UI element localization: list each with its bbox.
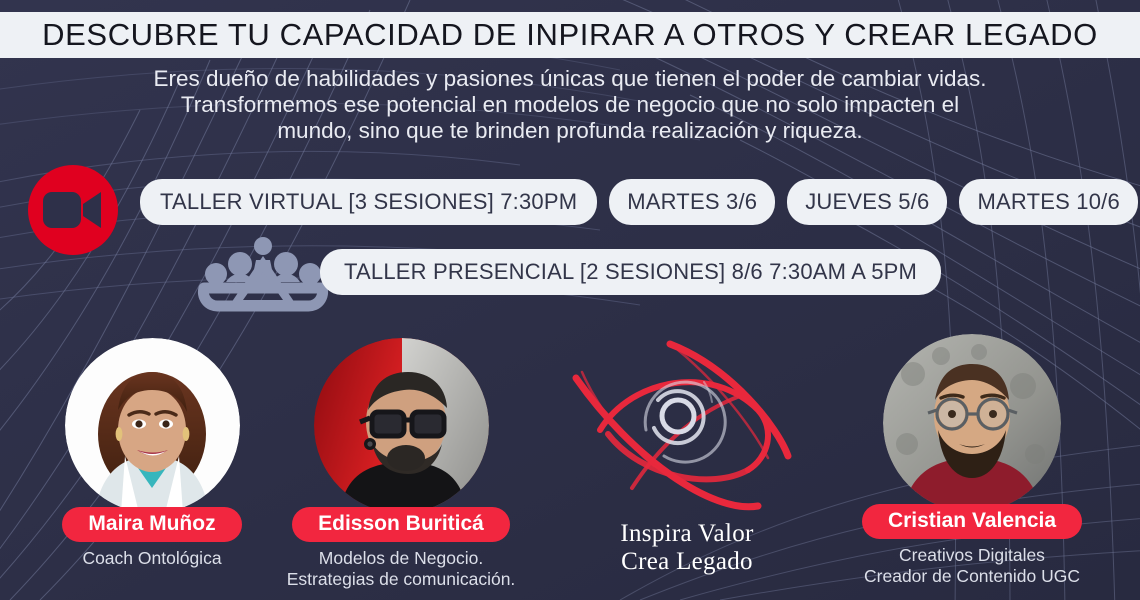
speaker-role-line-2: Creador de Contenido UGC [848,566,1096,587]
speaker-role-line-1: Modelos de Negocio. [277,548,525,569]
virtual-session-pill[interactable]: TALLER VIRTUAL [3 SESIONES] 7:30PM [140,179,597,225]
presencial-session-pill[interactable]: TALLER PRESENCIAL [2 SESIONES] 8/6 7:30A… [320,249,941,295]
speaker-name-badge: Maira Muñoz [62,507,241,542]
session-date-pill-2[interactable]: JUEVES 5/6 [787,179,947,225]
avatar [65,338,240,513]
speaker-card-maira: Maira Muñoz Coach Ontológica [28,338,276,569]
subtitle-line-2: Transformemos ese potencial en modelos d… [0,92,1140,118]
subtitle-block: Eres dueño de habilidades y pasiones úni… [0,66,1140,144]
avatar [314,338,489,513]
avatar [883,334,1061,512]
abstract-eye-icon [562,338,812,528]
session-date-pill-3[interactable]: MARTES 10/6 [959,179,1137,225]
brand-logo: Inspira Valor Crea Legado [562,338,812,596]
logo-text-line-1: Inspira Valor [562,520,812,548]
subtitle-line-1: Eres dueño de habilidades y pasiones úni… [0,66,1140,92]
headline-band: DESCUBRE TU CAPACIDAD DE INPIRAR A OTROS… [0,12,1140,58]
avatar-photo-cristian [883,334,1061,512]
speaker-card-cristian: Cristian Valencia Creativos Digitales Cr… [848,334,1096,587]
avatar-photo-edisson [314,338,489,513]
speaker-card-edisson: Edisson Buriticá Modelos de Negocio. Est… [277,338,525,590]
speaker-name-badge: Edisson Buriticá [292,507,510,542]
virtual-session-row: TALLER VIRTUAL [3 SESIONES] 7:30PM MARTE… [140,179,1138,225]
avatar-photo-maira [65,338,240,513]
page-title: DESCUBRE TU CAPACIDAD DE INPIRAR A OTROS… [42,17,1098,53]
speaker-name-badge: Cristian Valencia [862,504,1082,539]
video-camera-icon [25,162,121,258]
speaker-role-line-1: Coach Ontológica [28,548,276,569]
logo-text-line-2: Crea Legado [562,548,812,576]
subtitle-line-3: mundo, sino que te brinden profunda real… [0,118,1140,144]
promo-poster: DESCUBRE TU CAPACIDAD DE INPIRAR A OTROS… [0,0,1140,600]
group-audience-icon [196,232,330,312]
session-date-pill-1[interactable]: MARTES 3/6 [609,179,775,225]
speaker-role-line-2: Estrategias de comunicación. [277,569,525,590]
speaker-role-line-1: Creativos Digitales [848,545,1096,566]
